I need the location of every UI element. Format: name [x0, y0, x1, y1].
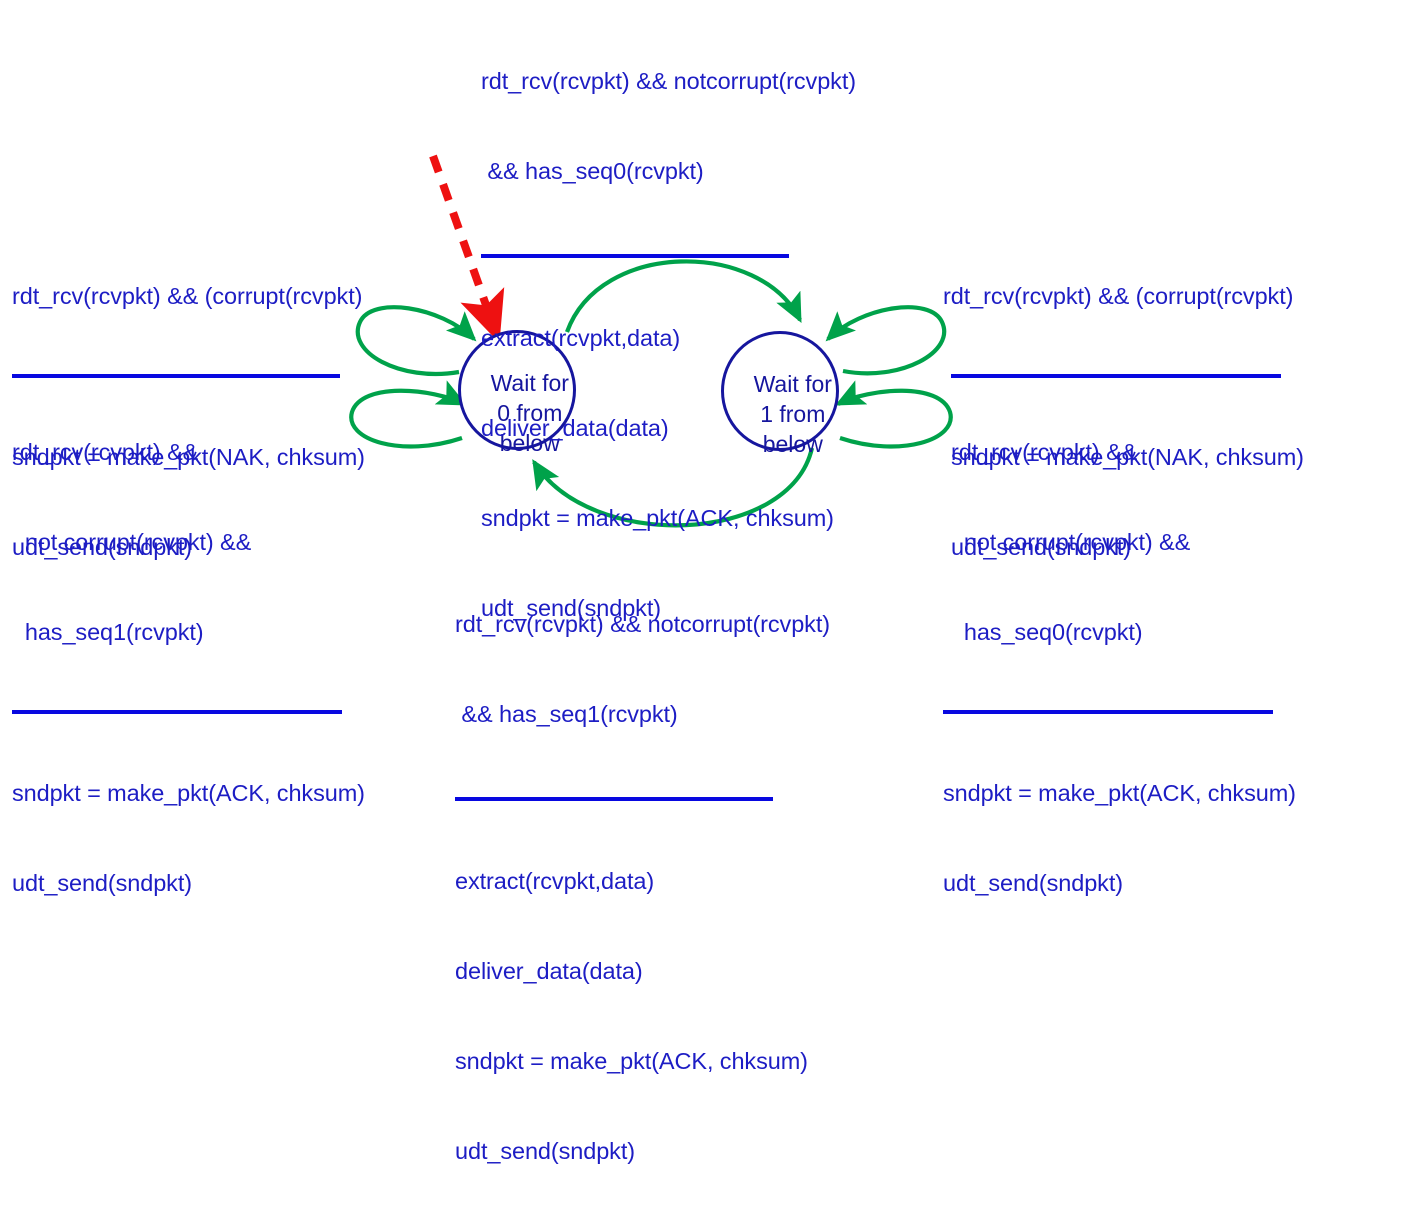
transition-label-left-bottom: rdt_rcv(rcvpkt) && not corrupt(rcvpkt) &…	[12, 377, 462, 958]
note-divider-top	[481, 254, 789, 258]
note-divider-right-bottom	[943, 710, 1273, 714]
note-divider-left-bottom	[12, 710, 342, 714]
transition-label-bottom: rdt_rcv(rcvpkt) && notcorrupt(rcvpkt) &&…	[455, 549, 935, 1226]
transition-label-right-bottom: rdt_rcv(rcvpkt) && not corrupt(rcvpkt) &…	[943, 377, 1413, 958]
note-divider-bottom	[455, 797, 773, 801]
fsm-diagram-canvas: Wait for 0 from below Wait for 1 from be…	[0, 0, 1418, 799]
